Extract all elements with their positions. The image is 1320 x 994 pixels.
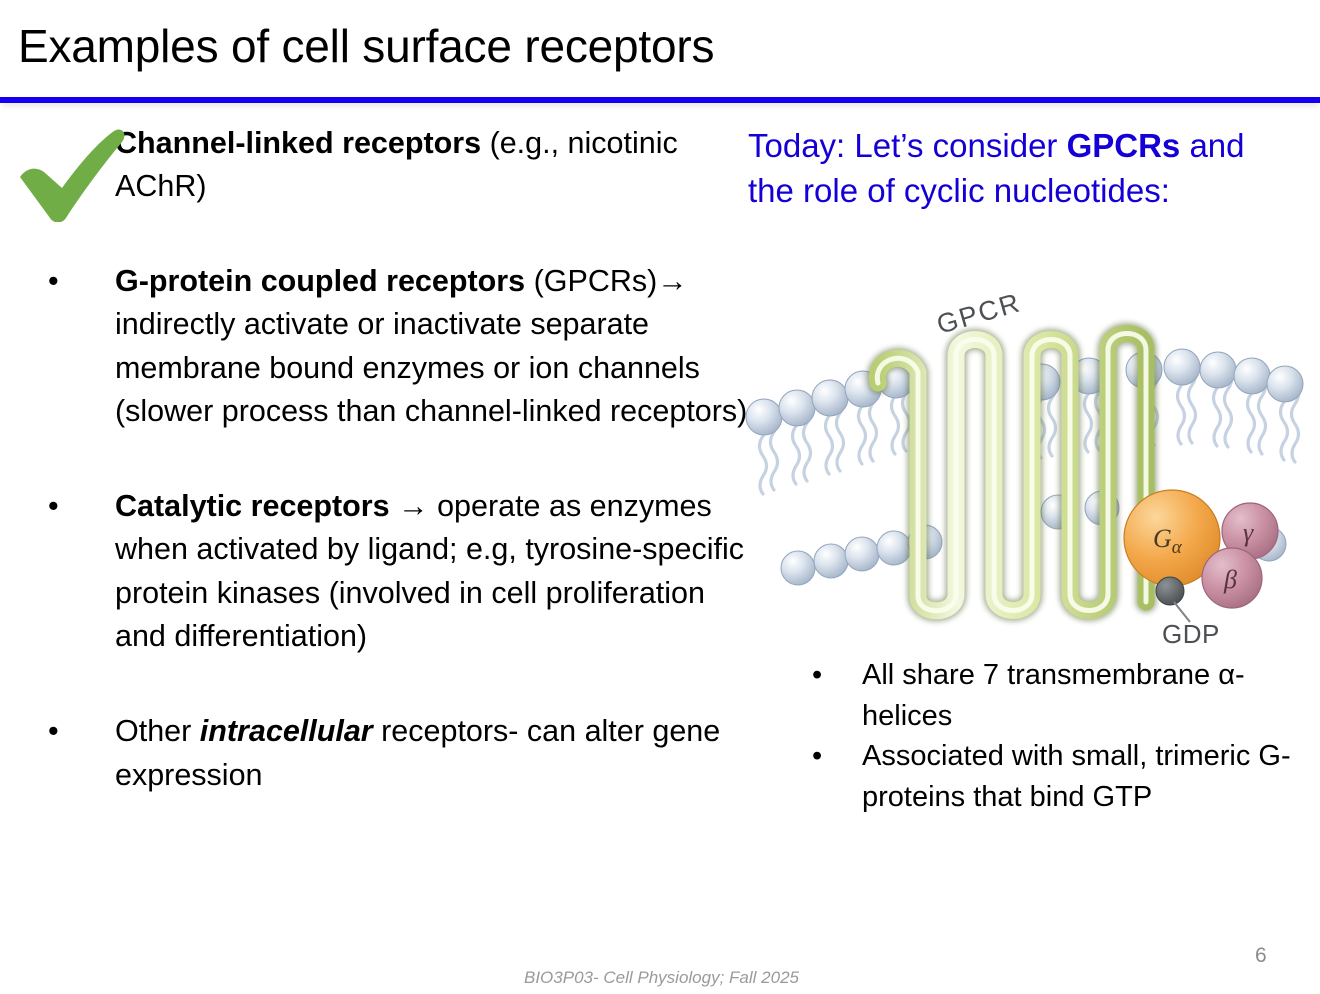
check-item: Channel-linked receptors (e.g., nicotini… (48, 120, 748, 216)
page-number: 6 (1255, 944, 1267, 968)
bullet-marker: • (812, 736, 832, 777)
list-item-text: Associated with small, trimeric G-protei… (862, 736, 1312, 817)
gpcr-membrane-diagram: GPCR Gα γ β GDP (742, 286, 1320, 646)
today-note-bold: GPCRs (1067, 127, 1181, 164)
footer-course-label: BIO3P03- Cell Physiology; Fall 2025 (524, 968, 799, 988)
spacer (48, 658, 748, 710)
bullet-marker: • (812, 655, 832, 696)
bullet-marker: • (48, 710, 70, 753)
spacer (48, 433, 748, 485)
slide-canvas: Examples of cell surface receptors Chann… (0, 0, 1320, 994)
list-item-intracellular: • Other intracellular receptors- can alt… (48, 710, 748, 797)
bullet-marker: • (48, 485, 70, 528)
list-item-gpcr: • G-protein coupled receptors (GPCRs)→ i… (48, 260, 748, 433)
list-item-text: Other intracellular receptors- can alter… (115, 710, 748, 797)
list-item-text: Catalytic receptors → operate as enzymes… (115, 485, 748, 658)
gdp-knob (1156, 577, 1184, 605)
check-item-text: Channel-linked receptors (e.g., nicotini… (115, 120, 755, 209)
green-checkmark-icon (10, 122, 128, 222)
right-content-column: • All share 7 transmembrane α-helices • … (812, 655, 1312, 817)
list-item-bold: G-protein coupled receptors (115, 264, 525, 298)
figure-label-gamma: γ (1243, 518, 1254, 547)
left-content-column: Channel-linked receptors (e.g., nicotini… (48, 120, 748, 797)
page-title: Examples of cell surface receptors (18, 22, 1288, 72)
list-item-bold-italic: intracellular (200, 714, 373, 748)
bullet-marker: • (48, 260, 70, 303)
spacer (48, 216, 748, 260)
list-item-catalytic: • Catalytic receptors → operate as enzym… (48, 485, 748, 658)
title-divider (0, 97, 1320, 103)
list-item-gproteins: • Associated with small, trimeric G-prot… (812, 736, 1312, 817)
list-item-text: All share 7 transmembrane α-helices (862, 655, 1312, 736)
today-note-lead: Today: Let’s consider (748, 127, 1067, 164)
list-item-bold: Catalytic receptors (115, 489, 390, 523)
list-item-helices: • All share 7 transmembrane α-helices (812, 655, 1312, 736)
list-item-text: G-protein coupled receptors (GPCRs)→ ind… (115, 260, 748, 433)
today-note: Today: Let’s consider GPCRs and the role… (748, 124, 1293, 214)
figure-label-gdp: GDP (1162, 619, 1220, 646)
figure-label-beta: β (1223, 565, 1237, 594)
check-item-bold: Channel-linked receptors (115, 126, 481, 160)
list-item-plain-before: Other (115, 714, 200, 748)
